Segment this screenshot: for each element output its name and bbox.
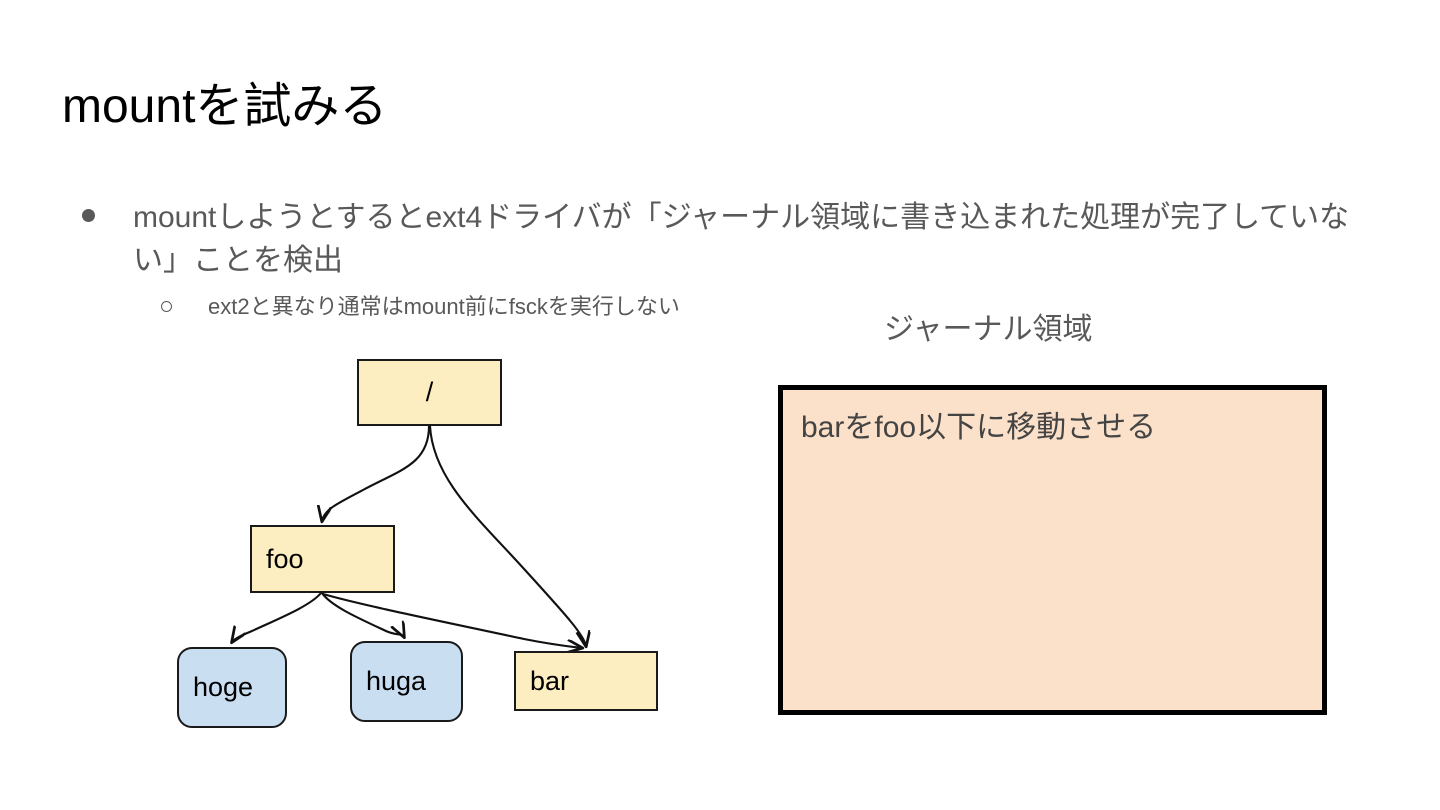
tree-node-bar[interactable]: bar [514,651,658,711]
tree-node-root[interactable]: / [357,359,502,426]
bullet-item-level1: mountしようとするとext4ドライバが「ジャーナル領域に書き込まれた処理が完… [62,196,1392,282]
tree-node-bar-label: bar [530,668,569,695]
page-title: mountを試みる [62,78,387,136]
tree-node-root-label: / [426,379,434,406]
tree-node-foo-label: foo [266,546,304,573]
tree-node-hoge-label: hoge [193,674,253,701]
bullet-disc-icon [82,209,95,222]
tree-edge-foo-huga [322,593,404,637]
bullet-item-level2-text: ext2と異なり通常はmount前にfsckを実行しない [208,294,680,319]
tree-node-huga[interactable]: huga [350,641,463,722]
journal-entry-item: barをfoo以下に移動させる [801,408,1156,448]
tree-node-huga-label: huga [366,668,426,695]
filesystem-tree-diagram: / foo hoge huga bar [150,340,710,750]
tree-node-foo[interactable]: foo [250,525,395,593]
bullet-item-level2: ext2と異なり通常はmount前にfsckを実行しない [62,290,1392,324]
tree-node-hoge[interactable]: hoge [177,647,287,728]
bullet-circle-icon [161,301,172,312]
journal-area-label: ジャーナル領域 [884,310,1093,350]
tree-edge-foo-hoge [232,593,321,642]
journal-area-box: barをfoo以下に移動させる [778,385,1327,715]
bullet-list: mountしようとするとext4ドライバが「ジャーナル領域に書き込まれた処理が完… [62,196,1392,324]
tree-edge-root-bar [430,426,586,646]
bullet-item-level1-text: mountしようとするとext4ドライバが「ジャーナル領域に書き込まれた処理が完… [133,201,1349,277]
tree-edge-root-foo [322,426,429,521]
tree-edge-foo-bar [323,594,582,648]
